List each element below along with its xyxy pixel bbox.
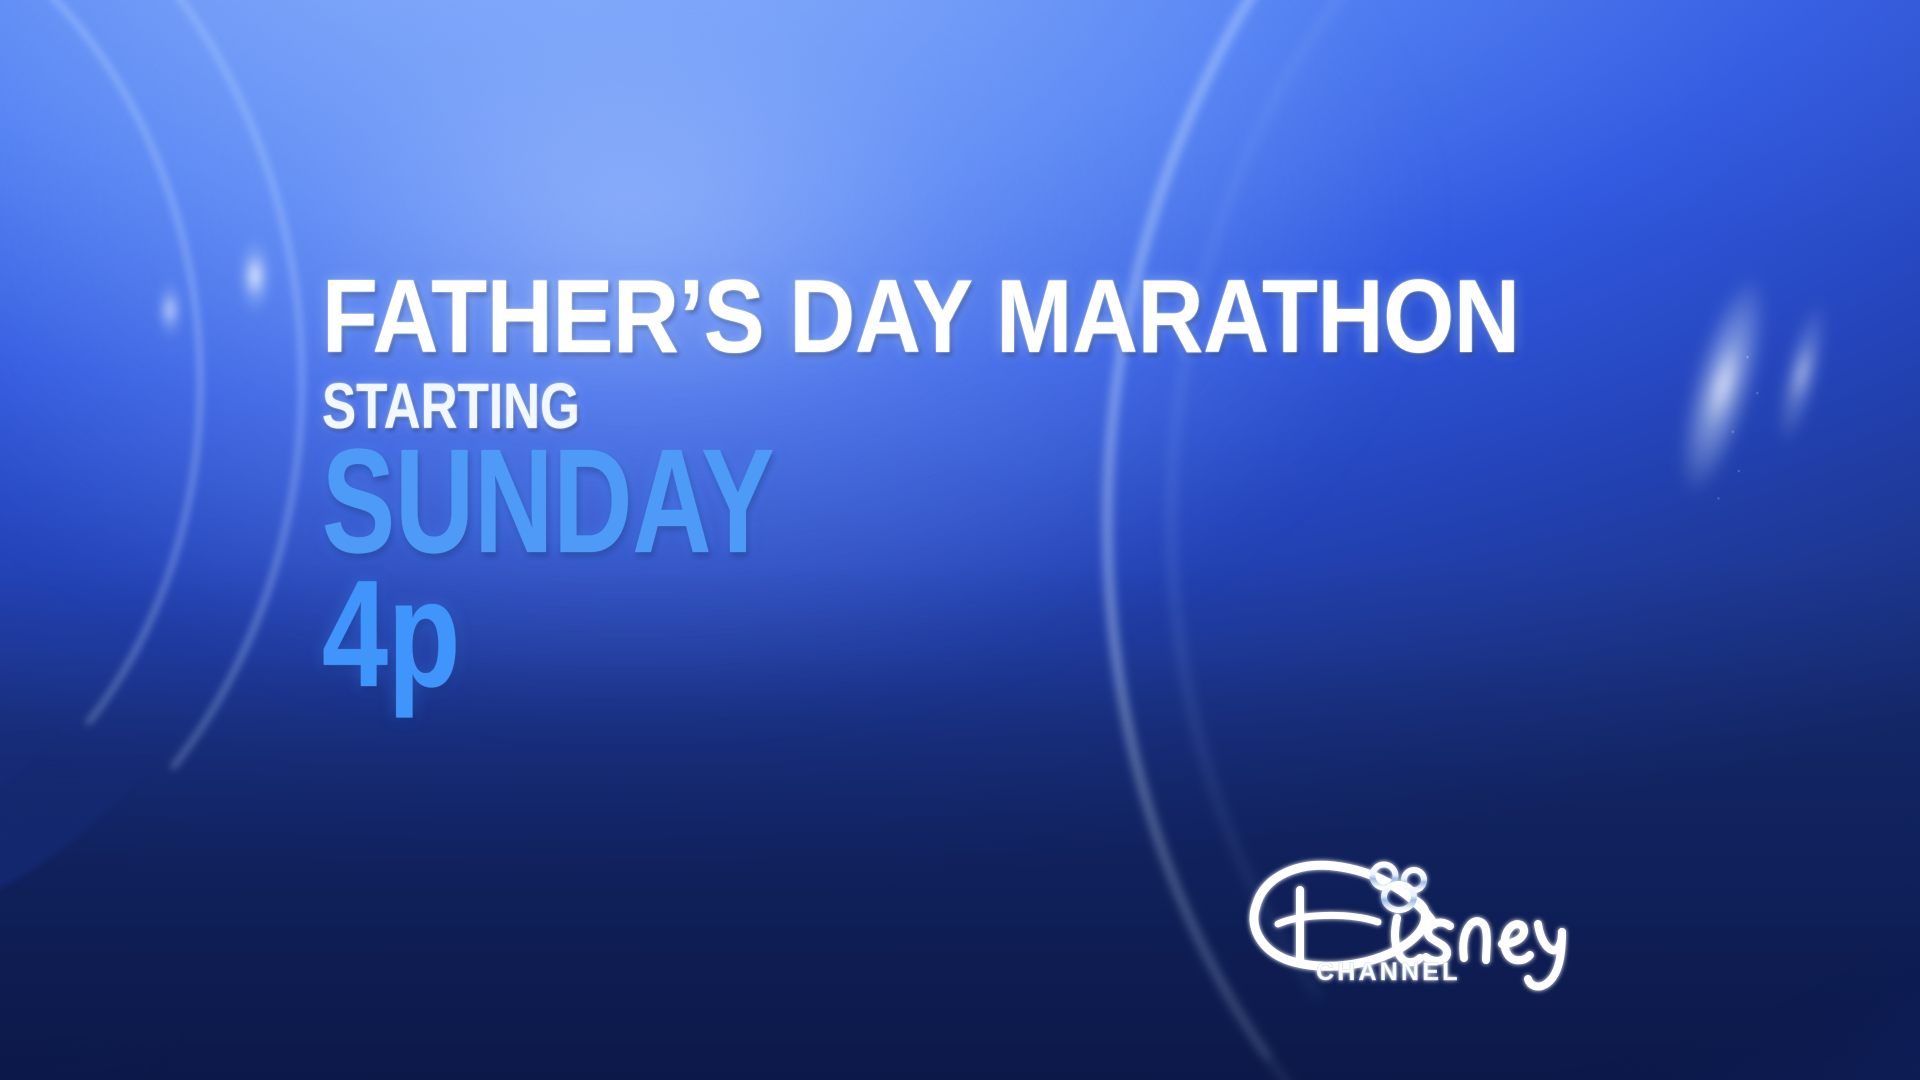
left-specular-highlight-inner — [157, 278, 183, 342]
promo-headline: FATHER’S DAY MARATHON — [322, 270, 1378, 366]
svg-text:CHANNEL: CHANNEL — [1316, 958, 1461, 986]
disney-channel-subtext: CHANNEL — [1316, 958, 1461, 986]
promo-day: SUNDAY — [322, 440, 1210, 564]
left-specular-highlight-outer — [238, 236, 272, 316]
promo-text-block: FATHER’S DAY MARATHON STARTING SUNDAY 4p — [322, 270, 1522, 702]
promo-time: 4p — [322, 568, 1258, 702]
bottom-vignette — [0, 650, 1920, 1080]
disney-channel-logo: CHANNEL — [1238, 846, 1570, 998]
promo-screen: FATHER’S DAY MARATHON STARTING SUNDAY 4p — [0, 0, 1920, 1080]
